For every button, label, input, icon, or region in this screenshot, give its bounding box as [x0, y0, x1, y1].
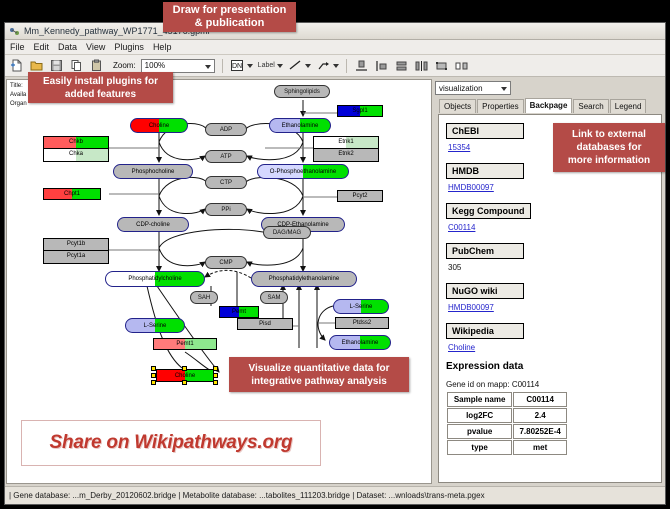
table-row: type met: [447, 440, 567, 455]
table-row: log2FC 2.4: [447, 408, 567, 423]
cofactor-node[interactable]: CTP: [205, 176, 247, 189]
save-icon[interactable]: [49, 58, 64, 73]
line-icon[interactable]: [288, 58, 303, 73]
table-cell-key: pvalue: [447, 424, 512, 439]
zoom-label: Zoom:: [113, 61, 136, 70]
share-banner-text: Share on Wikipathways.org: [50, 432, 293, 454]
table-cell-value: 2.4: [513, 408, 567, 423]
node-label: L-Serine: [144, 323, 167, 329]
toolbar-separator: [222, 59, 223, 73]
metabolite-node[interactable]: Phosphatidylcholine: [105, 271, 205, 287]
ungroup-icon[interactable]: [454, 58, 469, 73]
chevron-down-icon[interactable]: [247, 64, 253, 68]
new-file-icon[interactable]: [9, 58, 24, 73]
node-label: Sgpl1: [352, 108, 367, 114]
link-callout: Link to externaldatabases formore inform…: [553, 123, 665, 172]
gene-stack[interactable]: Chkb Chka: [43, 136, 109, 162]
node-label: Pisd: [259, 321, 271, 327]
db-value-pubchem: 305: [448, 263, 654, 272]
gene-node[interactable]: Pemt: [219, 306, 259, 318]
node-label: Pcyt2: [352, 193, 367, 199]
db-header-chebi: ChEBI: [446, 123, 524, 139]
zoom-value: 100%: [145, 61, 165, 70]
node-label: SAM: [267, 295, 280, 301]
metabolite-node[interactable]: Phosphatidylethanolamine: [251, 271, 357, 287]
align-left-icon[interactable]: [374, 58, 389, 73]
table-cell-key: log2FC: [447, 408, 512, 423]
resize-handle[interactable]: [151, 373, 156, 378]
gene-stack[interactable]: Etnk1 Etnk2: [313, 136, 379, 162]
label-tool-label: Label: [258, 62, 275, 69]
datanode-icon[interactable]: DN: [230, 58, 245, 73]
node-label: Pemt1: [176, 341, 193, 347]
table-cell-value: 7.80252E-4: [513, 424, 567, 439]
metabolite-node[interactable]: L-Serine: [333, 299, 389, 314]
gene-node[interactable]: Pemt1: [153, 338, 217, 350]
node-label: Etnk2: [338, 151, 353, 157]
align-bottom-icon[interactable]: [354, 58, 369, 73]
node-label: Phosphatidylcholine: [128, 276, 181, 282]
node-label: Chka: [69, 151, 83, 157]
table-row: Sample name C00114: [447, 392, 567, 407]
db-header-wikipedia: Wikipedia: [446, 323, 524, 339]
table-row: pvalue 7.80252E-4: [447, 424, 567, 439]
title-bar: Mm_Kennedy_pathway_WP1771_45176.gpml: [5, 23, 665, 40]
plugins-callout-text: Easily install plugins foradded features: [43, 75, 158, 101]
link-callout-text: Link to externaldatabases formore inform…: [568, 128, 650, 167]
tab-search[interactable]: Search: [573, 99, 608, 113]
expression-table: Sample name C00114 log2FC 2.4 pvalue 7.8…: [446, 391, 568, 456]
resize-handle[interactable]: [213, 373, 218, 378]
paste-icon[interactable]: [89, 58, 104, 73]
menu-item-data[interactable]: Data: [58, 42, 77, 52]
metabolite-node[interactable]: CDP-choline: [117, 217, 189, 232]
tab-backpage[interactable]: Backpage: [525, 98, 573, 113]
menu-item-view[interactable]: View: [86, 42, 105, 52]
chevron-down-icon[interactable]: [277, 64, 283, 68]
table-cell-value: C00114: [513, 392, 567, 407]
metabolite-node[interactable]: Ethanolamine: [329, 335, 391, 350]
db-header-hmdb: HMDB: [446, 163, 524, 179]
metabolite-node[interactable]: Choline: [130, 118, 188, 133]
app-icon: [9, 26, 20, 37]
node-label: PPi: [221, 207, 230, 213]
table-cell-value: met: [513, 440, 567, 455]
menu-item-plugins[interactable]: Plugins: [114, 42, 144, 52]
node-label: CMP: [219, 260, 232, 266]
datanode-tool[interactable]: DN: [230, 58, 253, 73]
node-label: Chkb: [69, 139, 83, 145]
db-header-pubchem: PubChem: [446, 243, 524, 259]
stack-icon[interactable]: [394, 58, 409, 73]
metabolite-node[interactable]: L-Serine: [125, 318, 185, 333]
node-label: Choline: [175, 373, 195, 379]
visualization-value: visualization: [439, 84, 483, 93]
db-header-kegg: Kegg Compound: [446, 203, 531, 219]
resize-handle[interactable]: [182, 380, 187, 385]
gene-node[interactable]: Chka: [44, 149, 108, 161]
gene-id-line: Gene id on mapp: C00114: [446, 380, 654, 389]
menu-item-edit[interactable]: Edit: [34, 42, 50, 52]
label-tool[interactable]: Label: [258, 62, 283, 69]
node-label: O-Phosphoethanolamine: [270, 169, 336, 175]
menu-item-file[interactable]: File: [10, 42, 25, 52]
gene-node[interactable]: Pcyt1b: [44, 239, 108, 251]
line-tool[interactable]: [288, 58, 311, 73]
node-label: Ptdss2: [353, 320, 371, 326]
expression-data-title: Expression data: [446, 361, 654, 372]
gene-node[interactable]: Chkb: [44, 137, 108, 149]
node-label: Pcyt1b: [67, 241, 85, 247]
cofactor-node[interactable]: SAH: [190, 291, 218, 304]
db-link-hmdb[interactable]: HMDB00097: [448, 183, 654, 192]
menu-item-help[interactable]: Help: [153, 42, 172, 52]
plugins-callout: Easily install plugins foradded features: [28, 72, 173, 103]
gene-node[interactable]: Etnk1: [314, 137, 378, 149]
visualize-callout: Visualize quantitative data forintegrati…: [229, 357, 409, 392]
gene-node[interactable]: Pisd: [237, 318, 293, 330]
cofactor-node[interactable]: PPi: [205, 203, 247, 216]
copy-icon[interactable]: [69, 58, 84, 73]
node-label: Phosphocholine: [132, 169, 175, 175]
gene-stack[interactable]: Pcyt1b Pcyt1a: [43, 238, 109, 264]
cofactor-node[interactable]: DAG/MAG: [263, 226, 311, 239]
open-folder-icon[interactable]: [29, 58, 44, 73]
tab-properties[interactable]: Properties: [477, 99, 523, 113]
node-label: SAH: [198, 295, 210, 301]
node-label: L-Serine: [350, 304, 373, 310]
tab-objects[interactable]: Objects: [439, 99, 476, 113]
chevron-down-icon[interactable]: [333, 64, 339, 68]
gene-node[interactable]: Sgpl1: [337, 105, 383, 117]
node-label: Ethanolamine: [282, 123, 319, 129]
gene-node[interactable]: Pcyt1a: [44, 251, 108, 263]
screenshot-root: Mm_Kennedy_pathway_WP1771_45176.gpml Fil…: [0, 0, 670, 509]
table-cell-key: Sample name: [447, 392, 512, 407]
pathway-canvas[interactable]: Title: Availa Organ: [6, 79, 432, 484]
chevron-down-icon: [501, 87, 507, 91]
menu-bar: File Edit Data View Plugins Help: [5, 40, 665, 55]
visualization-combo[interactable]: visualization: [435, 81, 511, 95]
node-label: CTP: [220, 180, 232, 186]
cofactor-node[interactable]: ATP: [205, 150, 247, 163]
db-link-wikipedia[interactable]: Choline: [448, 343, 654, 352]
gene-node[interactable]: Ptdss2: [335, 317, 389, 329]
node-label: Pcyt1a: [67, 253, 85, 259]
cofactor-node[interactable]: CMP: [205, 256, 247, 269]
tab-legend[interactable]: Legend: [610, 99, 647, 113]
visualize-callout-text: Visualize quantitative data forintegrati…: [249, 362, 390, 388]
cofactor-node[interactable]: SAM: [260, 291, 288, 304]
db-link-nugo[interactable]: HMDB00097: [448, 303, 654, 312]
node-label: Phosphatidylethanolamine: [269, 276, 339, 282]
table-cell-key: type: [447, 440, 512, 455]
chevron-down-icon[interactable]: [305, 64, 311, 68]
metabolite-node[interactable]: O-Phosphoethanolamine: [257, 164, 349, 179]
cofactor-node[interactable]: ADP: [205, 123, 247, 136]
share-banner: Share on Wikipathways.org: [21, 420, 321, 466]
gene-node[interactable]: Etnk2: [314, 149, 378, 161]
interaction-tool[interactable]: [316, 58, 339, 73]
status-bar: | Gene database: ...m_Derby_20120602.bri…: [5, 486, 665, 504]
draw-callout-text: Draw for presentation& publication: [173, 4, 287, 30]
node-label: Choline: [149, 123, 169, 129]
metabolite-node[interactable]: Ethanolamine: [269, 118, 331, 133]
draw-callout: Draw for presentation& publication: [163, 2, 296, 32]
node-label: Sphingolipids: [284, 89, 320, 95]
node-label: Ethanolamine: [342, 340, 379, 346]
node-label: ADP: [220, 127, 232, 133]
node-label: ATP: [220, 154, 231, 160]
chevron-down-icon: [205, 65, 211, 69]
resize-handle[interactable]: [151, 366, 156, 371]
node-label: Pemt: [232, 309, 246, 315]
side-panel-tabs: Objects Properties Backpage Search Legen…: [433, 98, 665, 113]
interaction-icon[interactable]: [316, 58, 331, 73]
resize-handle[interactable]: [182, 366, 187, 371]
distribute-icon[interactable]: [414, 58, 429, 73]
toolbar-separator: [346, 59, 347, 73]
resize-handle[interactable]: [151, 380, 156, 385]
metabolite-node[interactable]: Phosphocholine: [113, 164, 193, 179]
node-label: CDP-choline: [136, 222, 170, 228]
db-header-nugo: NuGO wiki: [446, 283, 524, 299]
node-label: Etnk1: [338, 139, 353, 145]
node-label: Chpt1: [64, 191, 80, 197]
metabolite-node[interactable]: Sphingolipids: [274, 85, 330, 98]
svg-text:DN: DN: [232, 63, 242, 70]
resize-handle[interactable]: [213, 366, 218, 371]
gene-node[interactable]: Pcyt2: [337, 190, 383, 202]
node-label: DAG/MAG: [273, 230, 301, 236]
resize-handle[interactable]: [213, 380, 218, 385]
status-text: | Gene database: ...m_Derby_20120602.bri…: [9, 491, 485, 500]
selected-node[interactable]: Choline: [151, 364, 219, 386]
zoom-combo[interactable]: 100%: [141, 59, 215, 73]
group-icon[interactable]: [434, 58, 449, 73]
gene-node[interactable]: Chpt1: [43, 188, 101, 200]
visualization-row: visualization: [433, 78, 665, 98]
db-link-kegg[interactable]: C00114: [448, 223, 654, 232]
